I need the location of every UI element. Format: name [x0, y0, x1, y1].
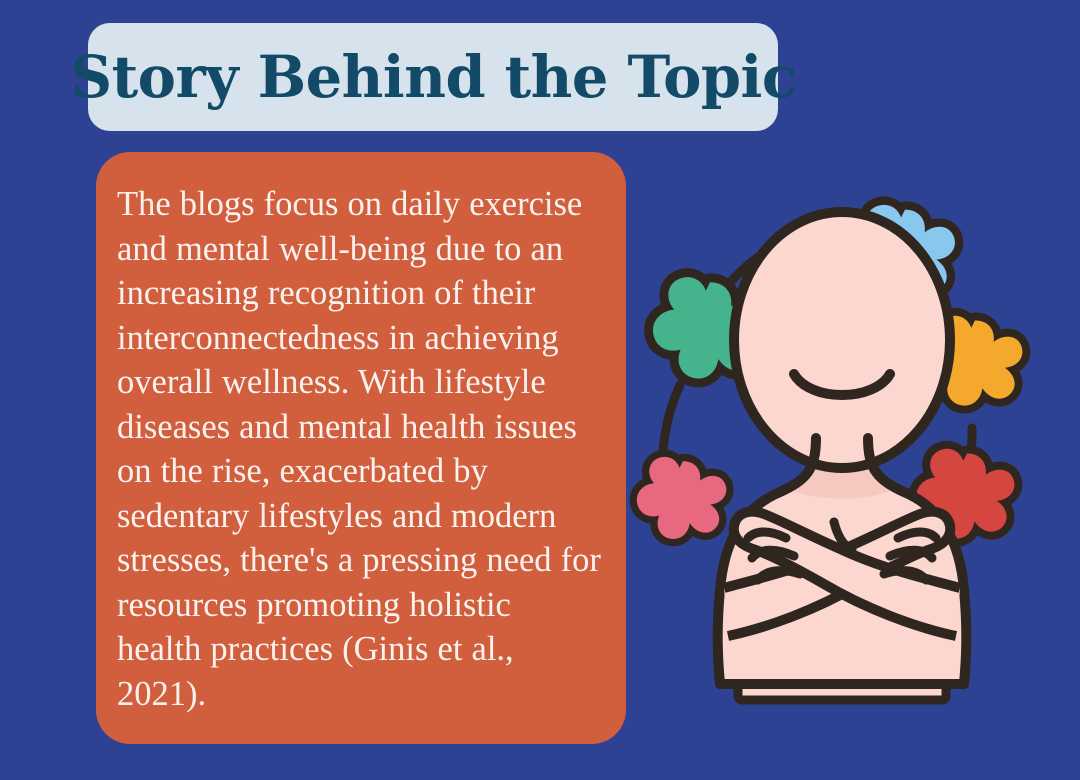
body-text-card: The blogs focus on daily exercise and me…: [96, 152, 626, 744]
body-paragraph: The blogs focus on daily exercise and me…: [117, 182, 604, 716]
title-banner: Story Behind the Topic: [88, 23, 778, 131]
flower-pink-icon: [637, 457, 726, 539]
figure-head: [734, 212, 950, 468]
slide-canvas: Story Behind the Topic The blogs focus o…: [0, 0, 1080, 780]
page-title: Story Behind the Topic: [70, 48, 796, 106]
illustration-person-self-hug-with-flowers: [620, 170, 1060, 740]
